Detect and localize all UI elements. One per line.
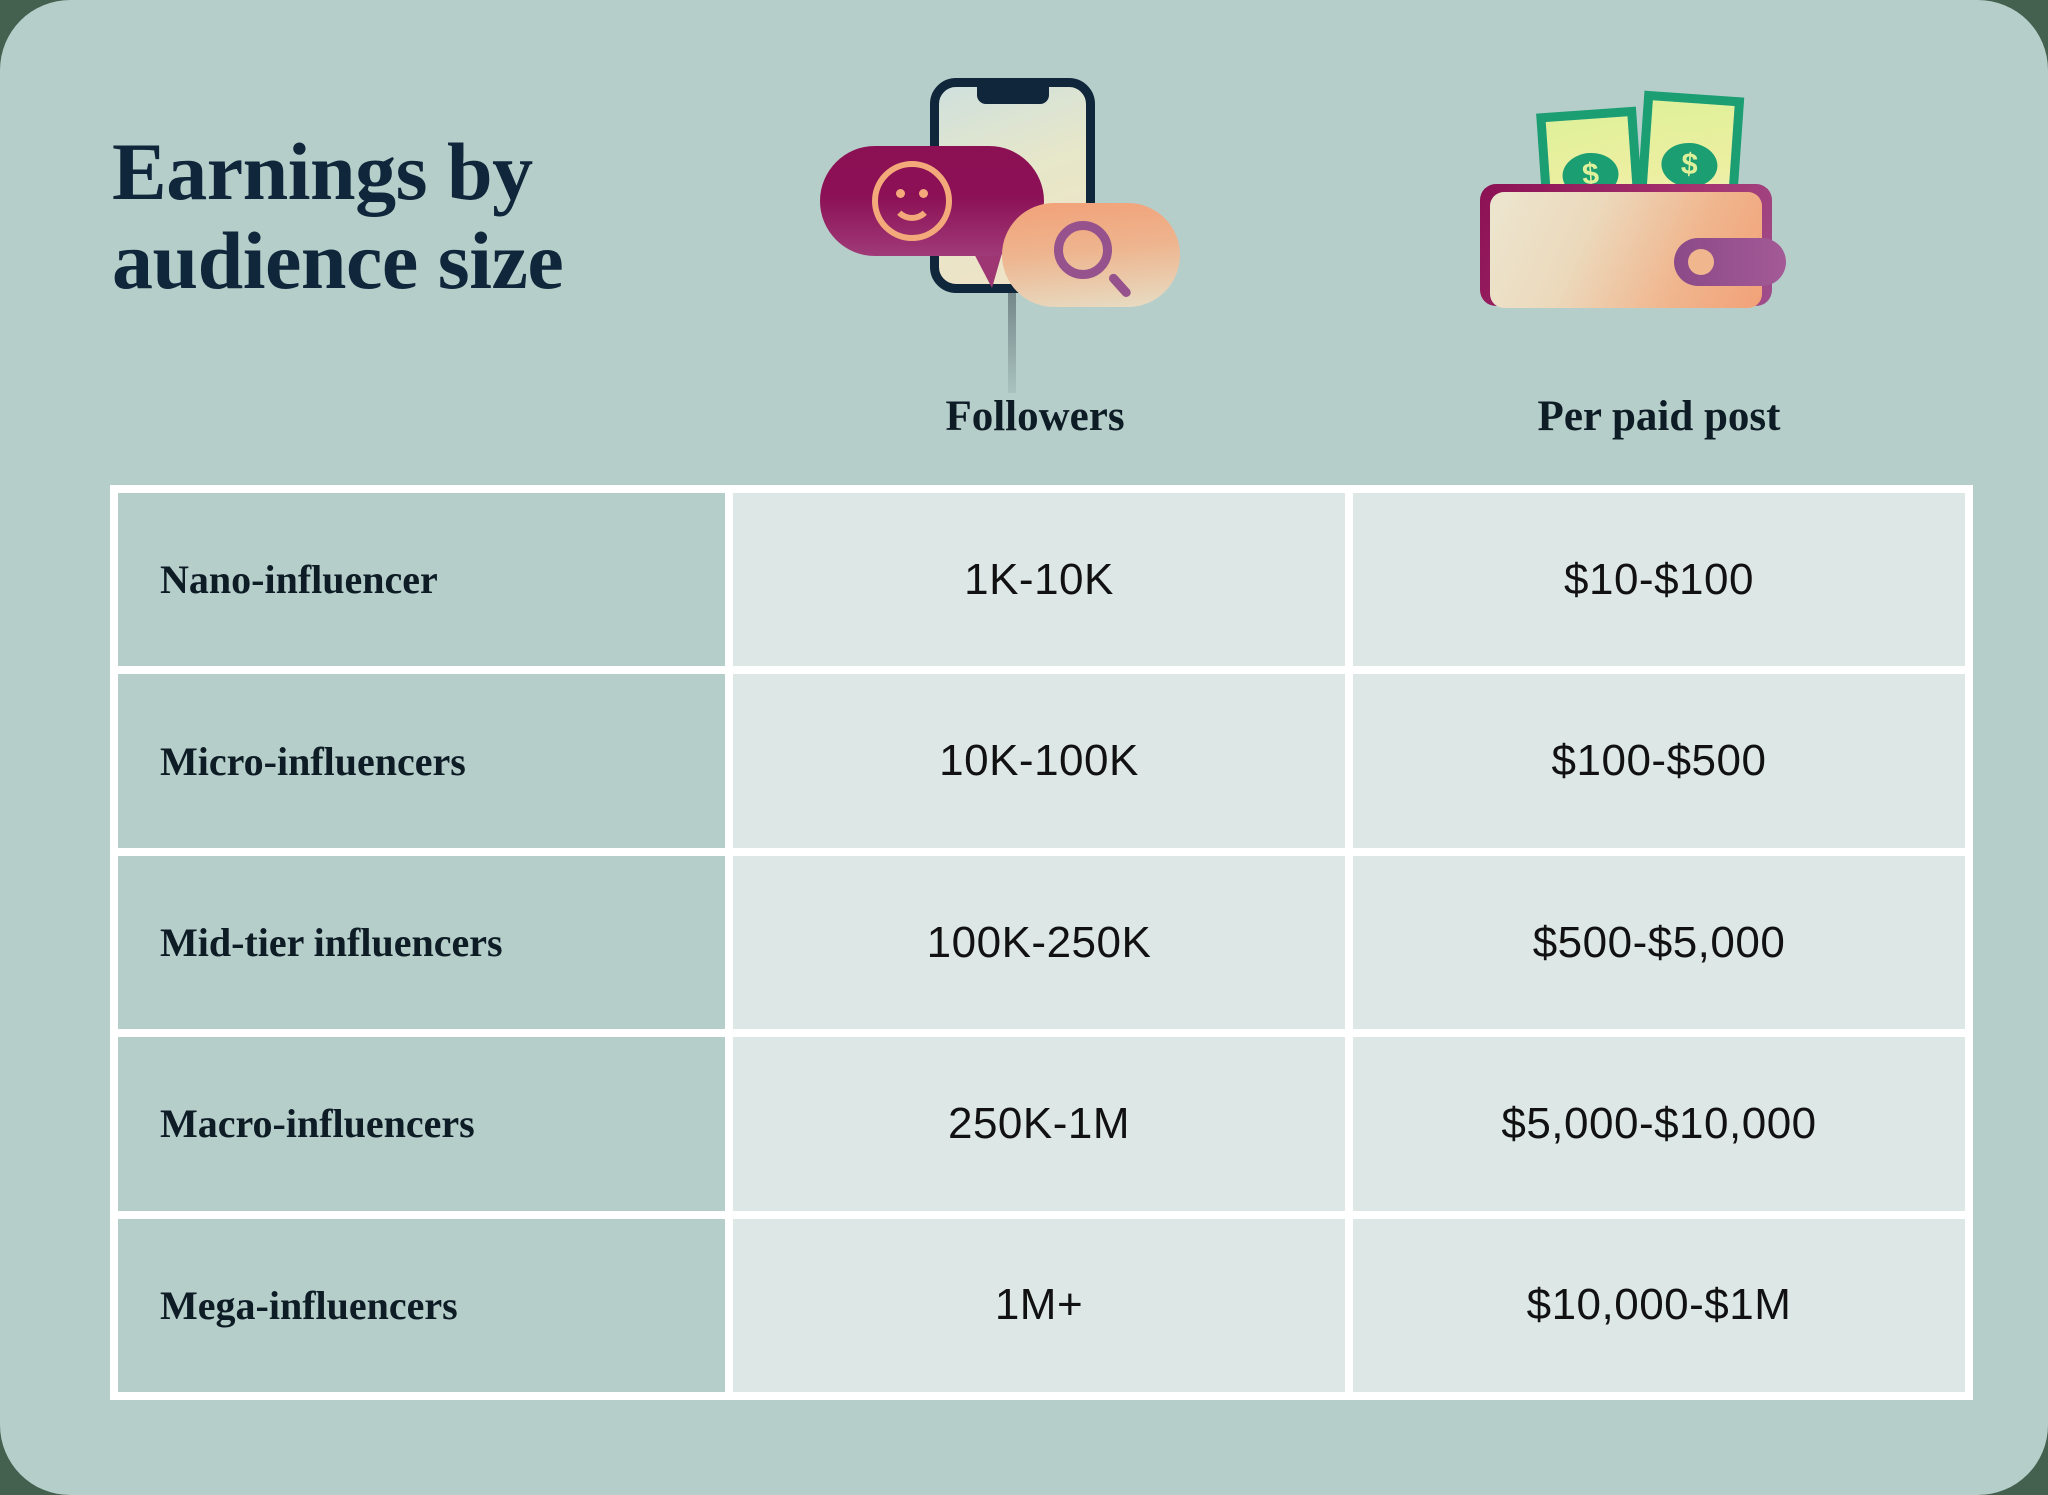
cell-per-paid-post: $5,000-$10,000 <box>1353 1037 1965 1210</box>
cell-followers: 1M+ <box>733 1219 1345 1392</box>
cell-per-paid-post: $10,000-$1M <box>1353 1219 1965 1392</box>
cell-followers: 10K-100K <box>733 674 1345 847</box>
smiley-mouth-icon <box>891 191 933 221</box>
magnifier-handle-icon <box>1107 272 1132 299</box>
cell-tier: Micro-influencers <box>118 674 725 847</box>
table-row: Macro-influencers 250K-1M $5,000-$10,000 <box>118 1037 1965 1210</box>
wallet-strap-dot-icon <box>1688 249 1714 275</box>
cell-tier: Mid-tier influencers <box>118 856 725 1029</box>
phone-stand-icon <box>1008 278 1016 393</box>
infographic-card: Earnings by audience size $ $ <box>0 0 2048 1495</box>
cell-followers: 1K-10K <box>733 493 1345 666</box>
earnings-table: Nano-influencer 1K-10K $10-$100 Micro-in… <box>110 485 1973 1400</box>
cell-per-paid-post: $10-$100 <box>1353 493 1965 666</box>
wallet-illustration: $ $ <box>1478 88 1798 303</box>
phone-notch-icon <box>977 87 1049 104</box>
cell-followers: 250K-1M <box>733 1037 1345 1210</box>
cell-per-paid-post: $500-$5,000 <box>1353 856 1965 1029</box>
cell-per-paid-post: $100-$500 <box>1353 674 1965 847</box>
page-title: Earnings by audience size <box>112 128 772 305</box>
column-header-followers: Followers <box>725 392 1345 441</box>
table-row: Mega-influencers 1M+ $10,000-$1M <box>118 1219 1965 1392</box>
search-bubble-icon <box>1002 203 1180 307</box>
cell-tier: Mega-influencers <box>118 1219 725 1392</box>
cell-tier: Nano-influencer <box>118 493 725 666</box>
smiley-face-icon <box>872 161 952 241</box>
table-row: Nano-influencer 1K-10K $10-$100 <box>118 493 1965 666</box>
column-header-per-paid-post: Per paid post <box>1345 392 1973 441</box>
table-row: Micro-influencers 10K-100K $100-$500 <box>118 674 1965 847</box>
magnifier-icon <box>1054 221 1112 279</box>
cell-followers: 100K-250K <box>733 856 1345 1029</box>
table-row: Mid-tier influencers 100K-250K $500-$5,0… <box>118 856 1965 1029</box>
wallet-strap-icon <box>1674 238 1786 286</box>
followers-illustration <box>820 78 1180 308</box>
cell-tier: Macro-influencers <box>118 1037 725 1210</box>
dollar-sign-icon: $ <box>1660 141 1719 189</box>
